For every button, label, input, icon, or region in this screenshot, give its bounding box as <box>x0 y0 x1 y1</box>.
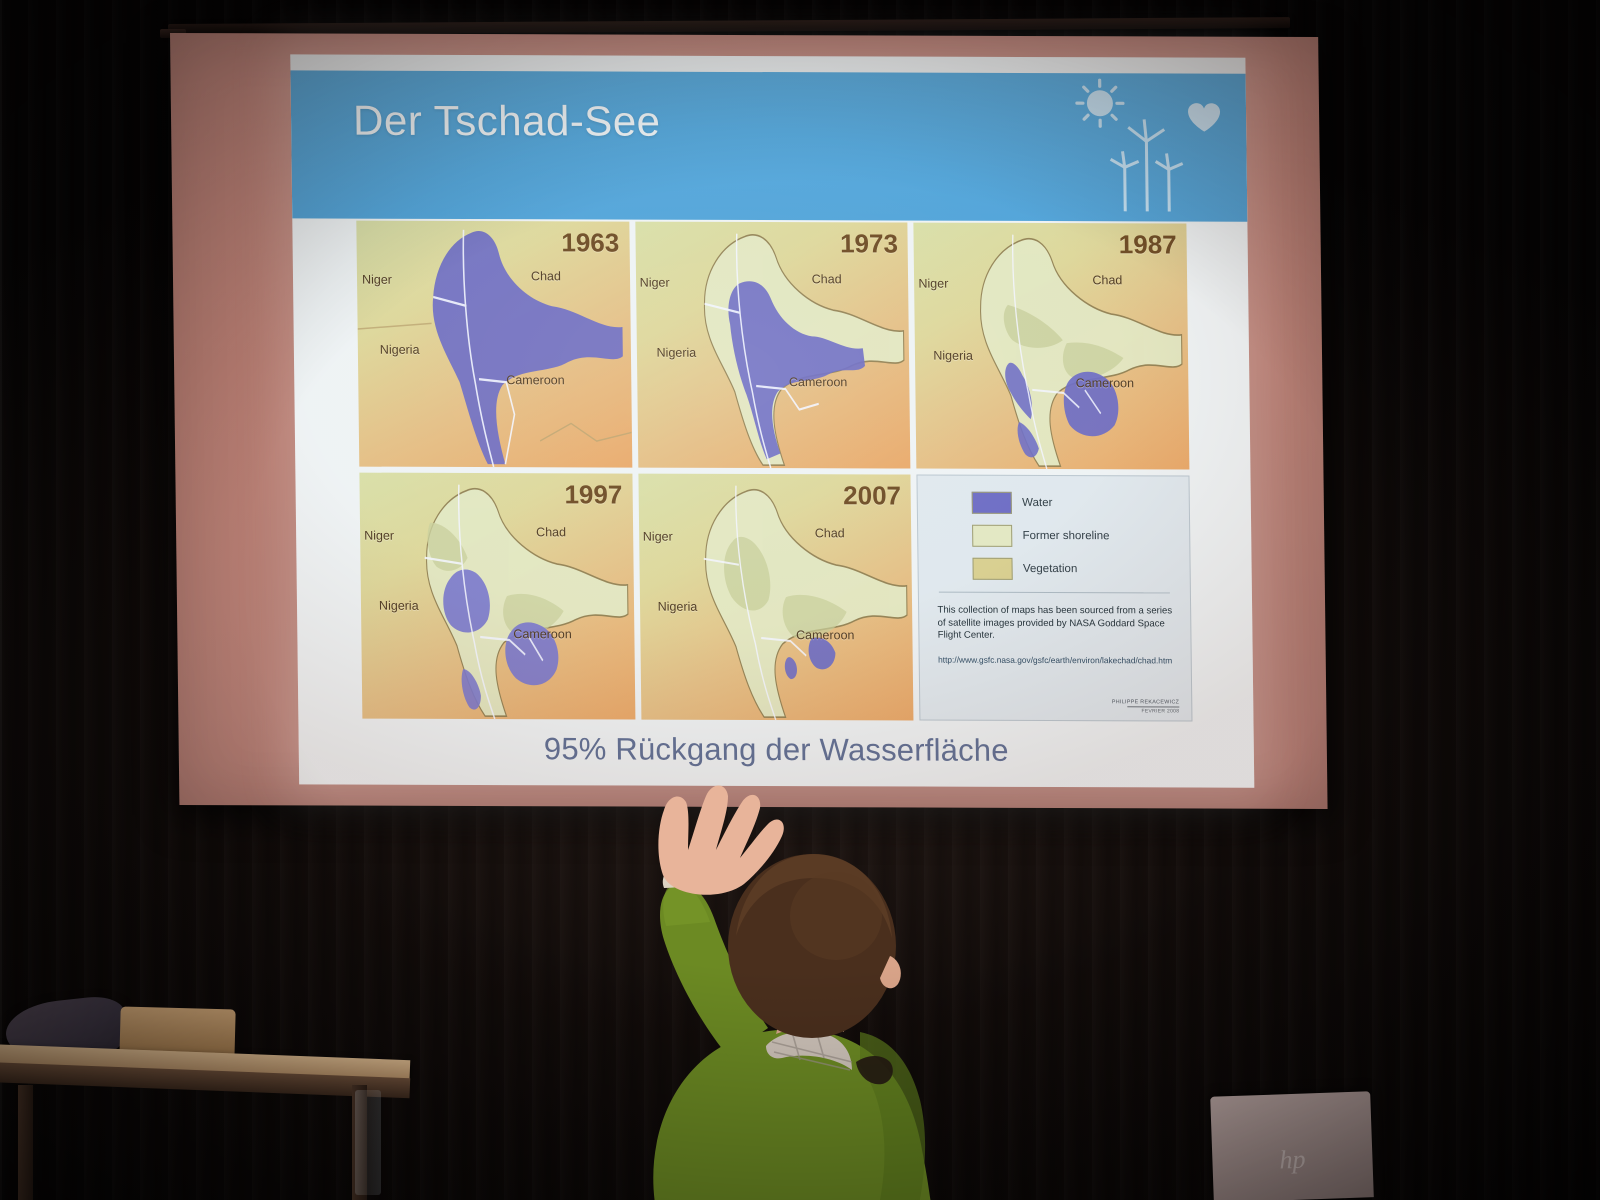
country-label-cameroon: Cameroon <box>789 375 848 389</box>
map-panel-2007: 2007 Niger Chad Nigeria Cameroon <box>638 474 914 721</box>
country-label-niger: Niger <box>640 276 670 290</box>
map-grid: 1963 Niger Chad Nigeria Cameroon <box>356 221 1192 722</box>
country-label-cameroon: Cameroon <box>796 628 855 642</box>
country-label-chad: Chad <box>536 525 566 539</box>
map-panel-1973: 1973 Niger Chad Nigeria Cameroon <box>635 222 911 469</box>
legend-entry-water: Water <box>972 492 1175 515</box>
country-label-niger: Niger <box>918 277 948 291</box>
slide-title: Der Tschad-See <box>353 97 661 146</box>
credit-date: FEVRIER 2008 <box>1112 708 1179 714</box>
country-label-chad: Chad <box>1092 273 1122 287</box>
country-label-chad: Chad <box>812 272 842 286</box>
presentation-photo-scene: Der Tschad-See <box>0 0 1600 1200</box>
panel-year-1963: 1963 <box>561 227 619 258</box>
legend-source-note: This collection of maps has been sourced… <box>937 605 1172 644</box>
legend-divider <box>939 592 1170 594</box>
legend-entry-former-shoreline: Former shoreline <box>972 525 1175 548</box>
country-label-nigeria: Nigeria <box>933 349 973 363</box>
country-label-nigeria: Nigeria <box>380 343 420 357</box>
legend-swatch-water <box>972 492 1012 514</box>
map-panel-1987: 1987 Niger Chad Nigeria Cameroon <box>914 223 1190 470</box>
country-label-niger: Niger <box>643 530 673 544</box>
map-panel-1997: 1997 Niger Chad Nigeria Cameroon <box>359 473 635 720</box>
country-label-niger: Niger <box>364 529 394 543</box>
country-label-cameroon: Cameroon <box>513 627 572 641</box>
country-label-cameroon: Cameroon <box>506 373 565 387</box>
credit-author: PHILIPPE REKACEWICZ <box>1112 699 1179 705</box>
country-label-chad: Chad <box>815 526 845 540</box>
legend-label-vegetation: Vegetation <box>1023 563 1078 575</box>
panel-year-1987: 1987 <box>1119 229 1177 260</box>
projection-screen: Der Tschad-See <box>170 33 1328 809</box>
map-legend: Water Former shoreline Vegetation This c… <box>917 475 1193 722</box>
country-label-niger: Niger <box>362 273 392 287</box>
wind-turbine-icon <box>1110 119 1183 211</box>
table-leg-left <box>18 1085 33 1200</box>
country-label-nigeria: Nigeria <box>657 346 697 360</box>
country-label-nigeria: Nigeria <box>379 599 419 613</box>
panel-year-1973: 1973 <box>840 228 898 259</box>
legend-source-url[interactable]: http://www.gsfc.nasa.gov/gsfc/earth/envi… <box>938 655 1173 666</box>
legend-label-water: Water <box>1022 497 1052 509</box>
legend-entry-vegetation: Vegetation <box>973 558 1176 581</box>
sun-icon <box>1077 80 1124 126</box>
legend-swatch-former-shoreline <box>972 525 1012 547</box>
map-panel-1963: 1963 Niger Chad Nigeria Cameroon <box>356 221 632 468</box>
laptop-brand-logo: hp <box>1279 1144 1306 1175</box>
panel-year-1997: 1997 <box>564 479 622 510</box>
country-label-cameroon: Cameroon <box>1076 376 1135 390</box>
drinking-glass <box>355 1090 381 1195</box>
legend-label-former-shoreline: Former shoreline <box>1022 530 1109 542</box>
eco-icon-group <box>1047 63 1229 214</box>
country-label-chad: Chad <box>531 269 561 283</box>
legend-swatch-vegetation <box>973 558 1013 580</box>
laptop[interactable]: hp <box>1210 1091 1374 1200</box>
country-label-nigeria: Nigeria <box>658 600 698 614</box>
credit-rule <box>1127 706 1179 707</box>
projected-slide: Der Tschad-See <box>290 54 1254 787</box>
heart-icon <box>1188 103 1220 132</box>
panel-year-2007: 2007 <box>843 480 901 511</box>
slide-caption: 95% Rückgang der Wasserfläche <box>299 730 1255 769</box>
legend-credit: PHILIPPE REKACEWICZ FEVRIER 2008 <box>1112 699 1180 714</box>
